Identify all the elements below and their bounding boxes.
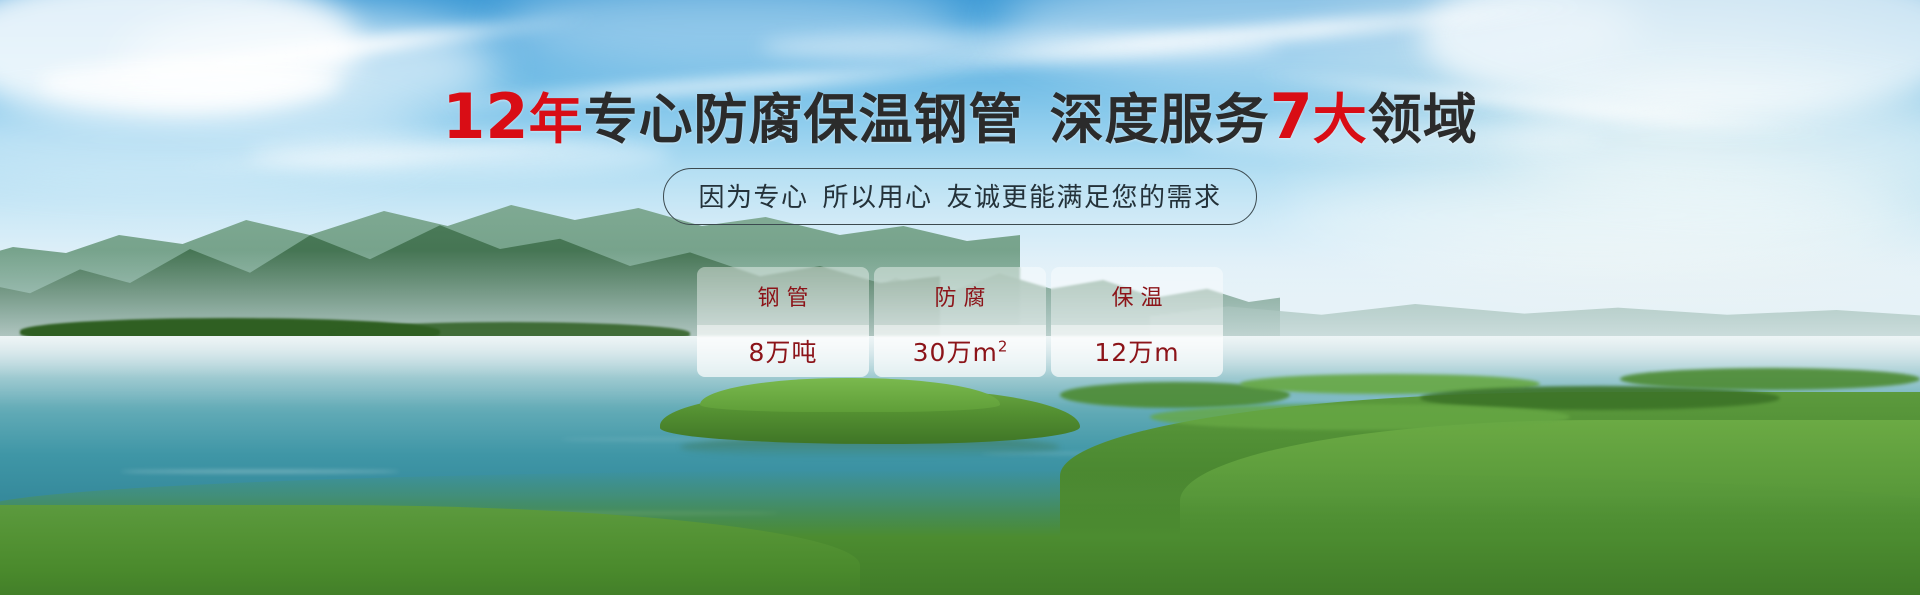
subtitle-part-1: 因为专心 bbox=[698, 183, 808, 213]
stat-card-anticorrosion[interactable]: 防腐 30万m2 bbox=[874, 267, 1046, 377]
stat-card-steel-pipe[interactable]: 钢管 8万吨 bbox=[697, 267, 869, 377]
stat-card-value: 30万m2 bbox=[913, 333, 1008, 369]
stat-card-header: 保温 bbox=[1051, 267, 1223, 324]
headline-years-number: 12 bbox=[442, 80, 528, 153]
banner-headline: 12年专心防腐保温钢管深度服务7大领域 bbox=[442, 82, 1477, 151]
stat-card-value-text: 8万吨 bbox=[749, 338, 818, 367]
stat-card-value-text: 30万m bbox=[913, 338, 998, 367]
stat-card-value: 12万m bbox=[1094, 333, 1179, 369]
stat-card-value: 8万吨 bbox=[749, 333, 818, 369]
stat-card-body: 12万m bbox=[1051, 325, 1223, 378]
headline-fields-number: 7 bbox=[1270, 80, 1313, 153]
headline-service-text: 深度服务 bbox=[1050, 88, 1270, 151]
stat-card-header: 防腐 bbox=[874, 267, 1046, 324]
hero-banner: 12年专心防腐保温钢管深度服务7大领域 因为专心所以用心友诚更能满足您的需求 钢… bbox=[0, 0, 1920, 595]
stat-card-label: 保温 bbox=[1104, 280, 1169, 312]
banner-subtitle: 因为专心所以用心友诚更能满足您的需求 bbox=[698, 177, 1221, 214]
stat-card-body: 30万m2 bbox=[874, 325, 1046, 378]
stat-card-label: 防腐 bbox=[927, 280, 992, 312]
stat-cards-group: 钢管 8万吨 防腐 30万m2 保温 12万m bbox=[697, 267, 1223, 377]
headline-fields-unit: 大 bbox=[1313, 88, 1368, 151]
subtitle-part-3: 友诚更能满足您的需求 bbox=[947, 183, 1222, 213]
stat-card-value-text: 12万m bbox=[1094, 338, 1179, 367]
headline-years-unit: 年 bbox=[529, 88, 584, 151]
subtitle-part-2: 所以用心 bbox=[822, 183, 932, 213]
stat-card-header: 钢管 bbox=[697, 267, 869, 324]
banner-content: 12年专心防腐保温钢管深度服务7大领域 因为专心所以用心友诚更能满足您的需求 钢… bbox=[0, 0, 1920, 595]
stat-card-value-superscript: 2 bbox=[998, 338, 1008, 356]
stat-card-label: 钢管 bbox=[750, 280, 815, 312]
stat-card-insulation[interactable]: 保温 12万m bbox=[1051, 267, 1223, 377]
subtitle-pill: 因为专心所以用心友诚更能满足您的需求 bbox=[663, 168, 1256, 225]
stat-card-body: 8万吨 bbox=[697, 325, 869, 378]
headline-fields-text: 领域 bbox=[1368, 88, 1478, 151]
headline-main-text: 专心防腐保温钢管 bbox=[584, 88, 1024, 151]
